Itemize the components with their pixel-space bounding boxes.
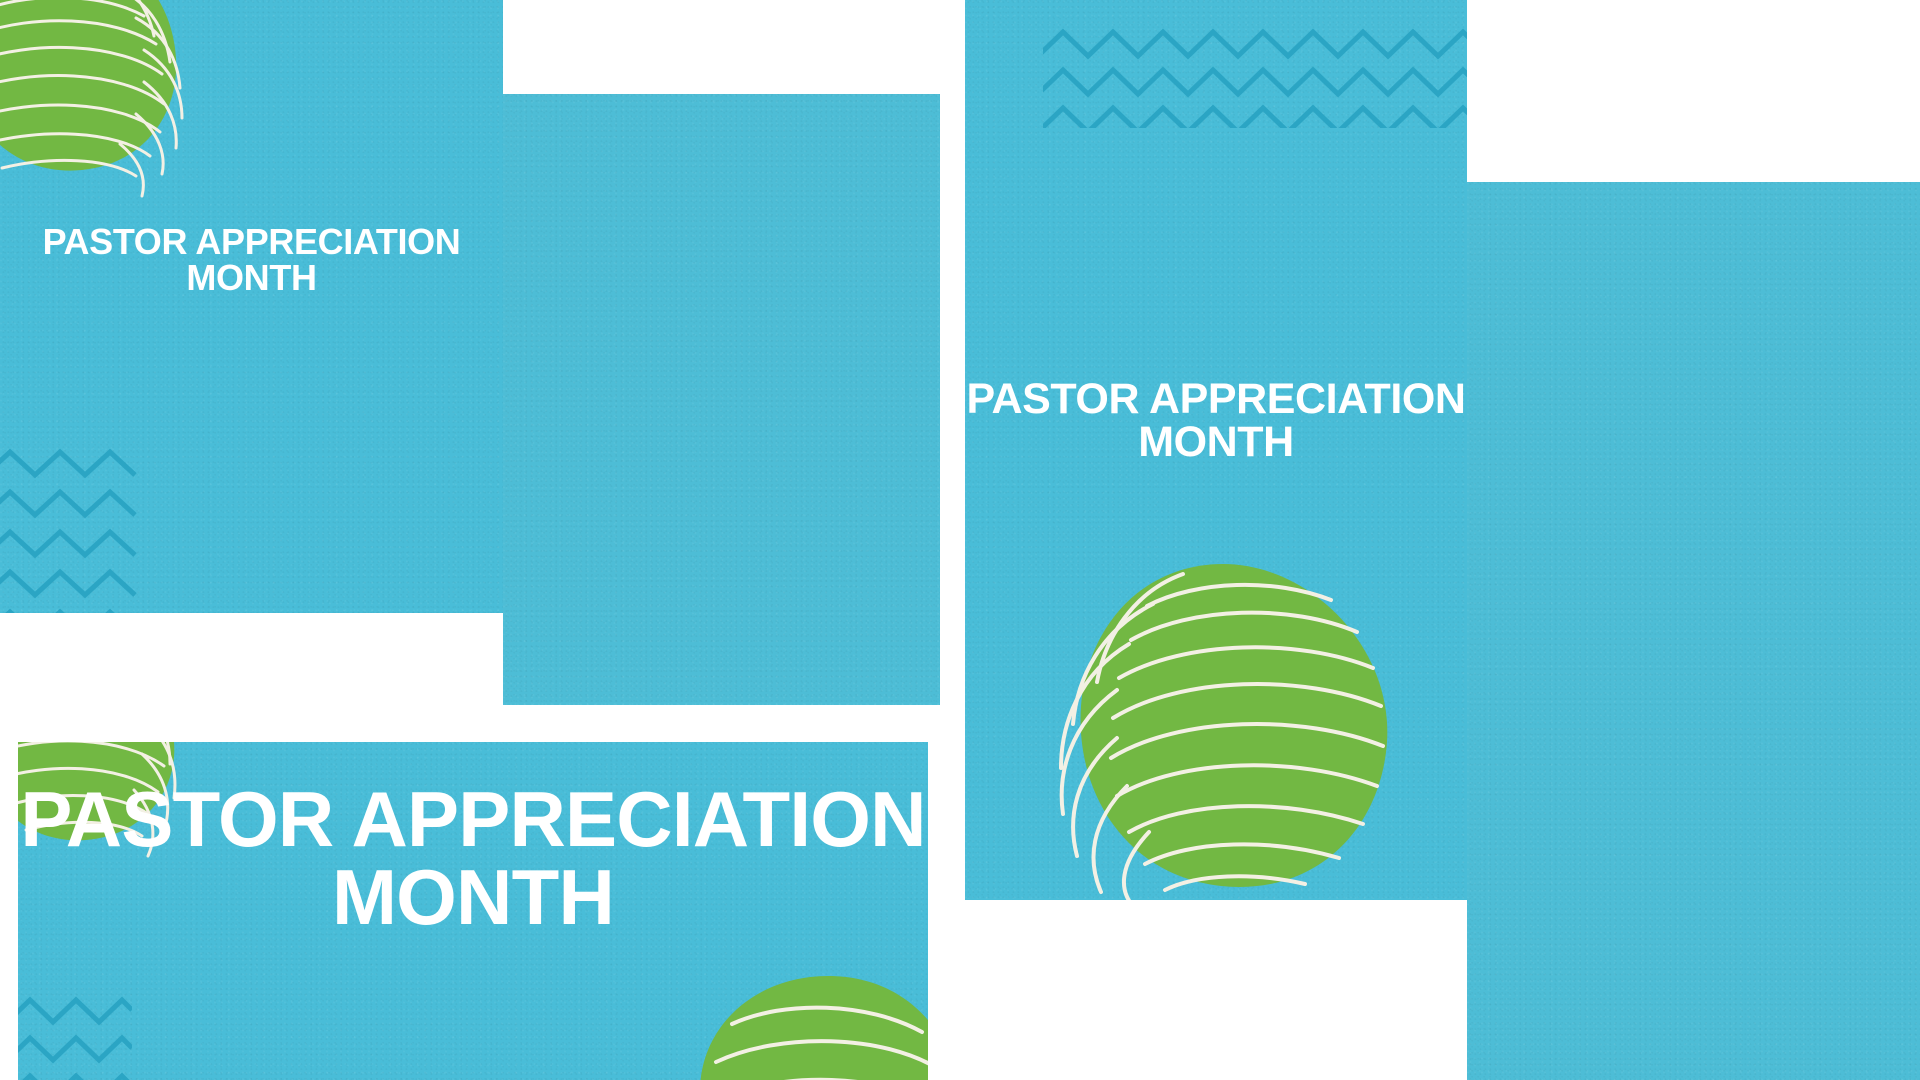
card-story-front[interactable]: PASTOR APPRECIATION MONTH [965,0,1467,900]
zigzag-pattern-icon [18,992,132,1080]
leaf-motif-icon [0,0,208,214]
leaf-motif-icon [973,556,1467,900]
card-story-front-headline: PASTOR APPRECIATION MONTH [965,378,1467,464]
green-corner-shape-icon [688,970,928,1080]
card-banner-headline: PASTOR APPRECIATION MONTH [18,780,928,936]
card-banner[interactable]: PASTOR APPRECIATION MONTH [18,742,928,1080]
card-story-back[interactable] [1467,182,1920,1080]
zigzag-pattern-icon [1043,18,1467,128]
card-portrait-back[interactable] [503,94,940,705]
card-portrait-front-headline: PASTOR APPRECIATION MONTH [0,224,503,296]
design-canvas: PASTOR APPRECIATION MONTH [0,0,1920,1080]
zigzag-pattern-icon [0,440,140,613]
card-portrait-front[interactable]: PASTOR APPRECIATION MONTH [0,0,503,613]
